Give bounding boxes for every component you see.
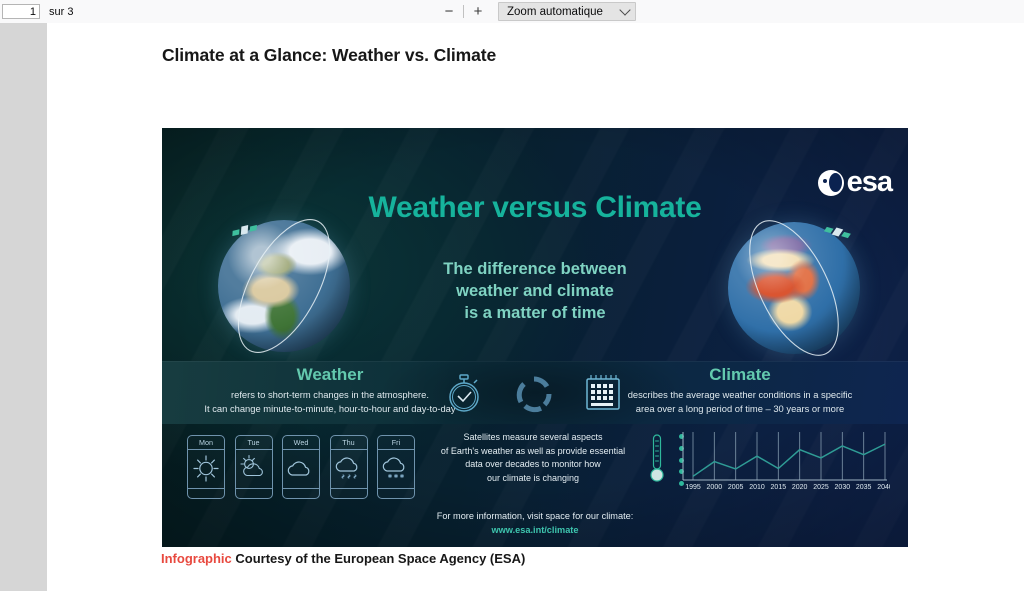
subheading-line-1: The difference between — [162, 259, 908, 281]
infographic-heading: Weather versus Climate — [162, 191, 908, 225]
page-title: Climate at a Glance: Weather vs. Climate — [162, 45, 496, 66]
cloud-icon — [283, 450, 319, 487]
subheading-line-2: weather and climate — [162, 281, 908, 303]
satellite-panel-left — [232, 229, 239, 236]
subheading-line-3: is a matter of time — [162, 303, 908, 325]
forecast-day-label: Wed — [283, 438, 319, 447]
sun-icon — [188, 450, 224, 487]
page-count-label: sur 3 — [49, 6, 73, 18]
chart-x-tick-label: 2020 — [792, 484, 808, 491]
chart-x-tick-label: 2015 — [771, 484, 787, 491]
page-number-input[interactable]: 1 — [2, 4, 40, 19]
chart-x-tick-label: 2030 — [835, 484, 851, 491]
snow-cloud-icon — [378, 450, 414, 487]
forecast-card: Wed — [282, 435, 320, 499]
chart-series-line — [693, 444, 885, 476]
stopwatch-icon — [443, 371, 485, 415]
card-divider-bottom — [283, 488, 319, 489]
forecast-day-label: Mon — [188, 438, 224, 447]
definitions-band: Weather refers to short-term changes in … — [162, 361, 908, 424]
zoom-in-button[interactable]: + — [466, 1, 490, 23]
rain-cloud-icon — [331, 450, 367, 487]
weather-heading: Weather — [180, 365, 480, 385]
chart-x-tick-label: 2005 — [728, 484, 744, 491]
card-divider-bottom — [188, 488, 224, 489]
forecast-day-label: Fri — [378, 438, 414, 447]
satellite-note-line-3: data over decades to monitor how — [423, 458, 643, 472]
forecast-card: Mon — [187, 435, 225, 499]
satellite-panel-right — [250, 224, 257, 231]
chart-x-tick-label: 1995 — [685, 484, 701, 491]
satellite-note-line-1: Satellites measure several aspects — [423, 431, 643, 445]
toolbar-divider — [463, 5, 464, 18]
zoom-level-value: Zoom automatique — [507, 6, 603, 18]
pdf-page: Climate at a Glance: Weather vs. Climate… — [47, 23, 1024, 591]
climate-trend-chart: 1995200020052010201520202025203020352040 — [675, 430, 890, 493]
zoom-level-select[interactable]: Zoom automatique — [498, 2, 636, 21]
card-divider-bottom — [378, 488, 414, 489]
forecast-day-label: Tue — [236, 438, 272, 447]
satellite-note: Satellites measure several aspects of Ea… — [423, 431, 643, 485]
forecast-card: Fri — [377, 435, 415, 499]
card-divider-bottom — [331, 488, 367, 489]
chart-x-tick-label: 2040 — [877, 484, 890, 491]
image-caption: Infographic Courtesy of the European Spa… — [161, 551, 525, 566]
chart-x-tick-label: 2035 — [856, 484, 872, 491]
forecast-card: Tue — [235, 435, 273, 499]
weather-forecast-cards: Mon Tue — [187, 435, 415, 499]
satellite-note-line-2: of Earth's weather as well as provide es… — [423, 445, 643, 459]
chart-x-tick-label: 2000 — [707, 484, 723, 491]
satellite-note-line-4: our climate is changing — [423, 472, 643, 486]
pdf-viewer-area[interactable]: Climate at a Glance: Weather vs. Climate… — [0, 23, 1024, 591]
esa-climate-link[interactable]: www.esa.int/climate — [162, 523, 908, 537]
refresh-arc-icon — [515, 375, 553, 413]
forecast-card: Thu — [330, 435, 368, 499]
climate-heading: Climate — [590, 365, 890, 385]
sun-behind-cloud-icon — [236, 450, 272, 487]
chevron-down-icon — [619, 4, 630, 15]
forecast-day-label: Thu — [331, 438, 367, 447]
chart-x-tick-label: 2010 — [749, 484, 765, 491]
infographic-image: esa — [162, 128, 908, 547]
chart-gridlines — [693, 432, 885, 480]
caption-highlight: Infographic — [161, 551, 232, 566]
zoom-out-button[interactable]: − — [437, 1, 461, 23]
thermometer-icon — [649, 433, 665, 485]
infographic-footer: For more information, visit space for ou… — [162, 509, 908, 538]
card-divider-bottom — [236, 488, 272, 489]
caption-rest: Courtesy of the European Space Agency (E… — [232, 551, 526, 566]
zoom-controls: − + Zoom automatique — [437, 0, 636, 23]
chart-x-tick-label: 2025 — [813, 484, 829, 491]
pdf-toolbar: 1 sur 3 − + Zoom automatique — [0, 0, 1024, 24]
chart-x-tick-labels: 1995200020052010201520202025203020352040 — [685, 484, 890, 491]
infographic-subheading: The difference between weather and clima… — [162, 259, 908, 325]
calendar-icon — [582, 371, 626, 415]
footer-line-1: For more information, visit space for ou… — [162, 509, 908, 523]
